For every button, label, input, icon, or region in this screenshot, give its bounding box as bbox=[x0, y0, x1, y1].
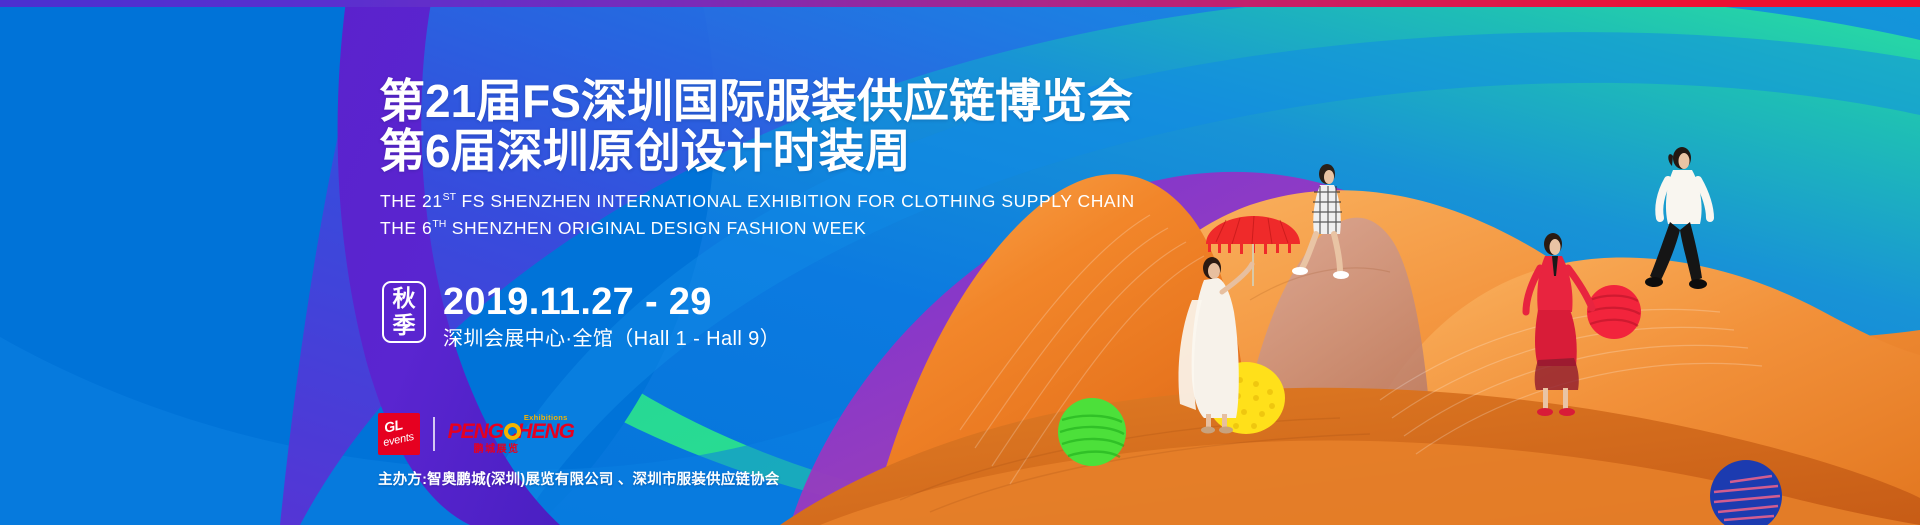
subtitle-line-1-prefix: THE 21 bbox=[380, 191, 443, 211]
event-venue: 深圳会展中心·全馆（Hall 1 - Hall 9） bbox=[443, 326, 780, 352]
gl-events-logo: GL events bbox=[378, 413, 420, 455]
season-badge-char-2: 季 bbox=[393, 312, 416, 339]
date-row: 秋 季 2019.11.27 - 29 深圳会展中心·全馆（Hall 1 - H… bbox=[382, 281, 780, 352]
subtitle-line-1-ordinal: ST bbox=[443, 191, 456, 203]
gl-events-logo-mark: GL bbox=[383, 417, 404, 435]
season-badge-char-1: 秋 bbox=[393, 285, 416, 312]
pengcheng-ring-icon bbox=[504, 423, 521, 440]
main-title-line-2: 第6届深圳原创设计时装周 bbox=[379, 126, 1133, 176]
subtitle-line-1: THE 21ST FS SHENZHEN INTERNATIONAL EXHIB… bbox=[380, 186, 1135, 213]
subtitle-line-2-rest: SHENZHEN ORIGINAL DESIGN FASHION WEEK bbox=[446, 218, 866, 238]
event-date: 2019.11.27 - 29 bbox=[443, 281, 780, 323]
organizer-line: 主办方:智奥鹏城(深圳)展览有限公司 、深圳市服装供应链协会 bbox=[378, 468, 780, 489]
pengcheng-chinese-name: 鹏城展览 bbox=[474, 444, 520, 455]
season-badge: 秋 季 bbox=[382, 281, 426, 343]
subtitle-line-1-rest: FS SHENZHEN INTERNATIONAL EXHIBITION FOR… bbox=[456, 191, 1135, 211]
subtitle-line-2-prefix: THE 6 bbox=[380, 218, 432, 238]
banner-content: 第21届FS深圳国际服装供应链博览会 第6届深圳原创设计时装周 THE 21ST… bbox=[0, 0, 1920, 525]
pengcheng-logo: Exhibitions PENGCHENG 鹏城展览 bbox=[448, 413, 568, 455]
subtitle-line-2-ordinal: TH bbox=[432, 218, 446, 230]
date-texts: 2019.11.27 - 29 深圳会展中心·全馆（Hall 1 - Hall … bbox=[443, 281, 780, 352]
main-title-line-1: 第21届FS深圳国际服装供应链博览会 bbox=[379, 76, 1133, 126]
top-accent-strip bbox=[0, 0, 1920, 7]
logo-row: GL events Exhibitions PENGCHENG 鹏城展览 bbox=[378, 412, 568, 456]
exhibition-banner: 第21届FS深圳国际服装供应链博览会 第6届深圳原创设计时装周 THE 21ST… bbox=[0, 0, 1920, 525]
logo-divider bbox=[433, 417, 435, 451]
title-block: 第21届FS深圳国际服装供应链博览会 第6届深圳原创设计时装周 bbox=[379, 76, 1133, 176]
subtitle-line-2: THE 6TH SHENZHEN ORIGINAL DESIGN FASHION… bbox=[380, 213, 1135, 240]
subtitle-block: THE 21ST FS SHENZHEN INTERNATIONAL EXHIB… bbox=[380, 186, 1135, 240]
